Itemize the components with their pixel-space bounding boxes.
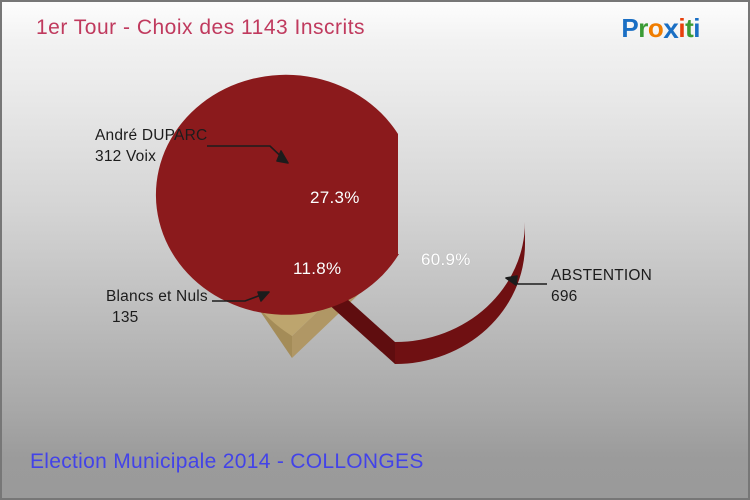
footer-caption: Election Municipale 2014 - COLLONGES (30, 450, 424, 474)
callout-blancs: Blancs et Nuls 135 (106, 287, 208, 329)
slice-abstention-side (395, 222, 525, 364)
slice-label-blancs: 11.8% (293, 259, 341, 279)
callout-duparc: André DUPARC 312 Voix (95, 126, 207, 168)
callout-duparc-votes: 312 Voix (95, 147, 207, 168)
callout-abstention-name: ABSTENTION (551, 267, 652, 284)
callout-duparc-name: André DUPARC (95, 127, 207, 144)
callout-blancs-name: Blancs et Nuls (106, 288, 208, 305)
slice-abstention-top (156, 75, 399, 315)
callout-blancs-votes: 135 (106, 308, 208, 329)
pie-chart-graphic (2, 2, 750, 500)
slice-label-abstention: 60.9% (421, 250, 471, 270)
callout-abstention: ABSTENTION 696 (551, 266, 652, 308)
slice-label-duparc: 27.3% (310, 188, 360, 208)
chart-canvas: 1er Tour - Choix des 1143 Inscrits Proxi… (0, 0, 750, 500)
callout-abstention-votes: 696 (551, 287, 652, 308)
